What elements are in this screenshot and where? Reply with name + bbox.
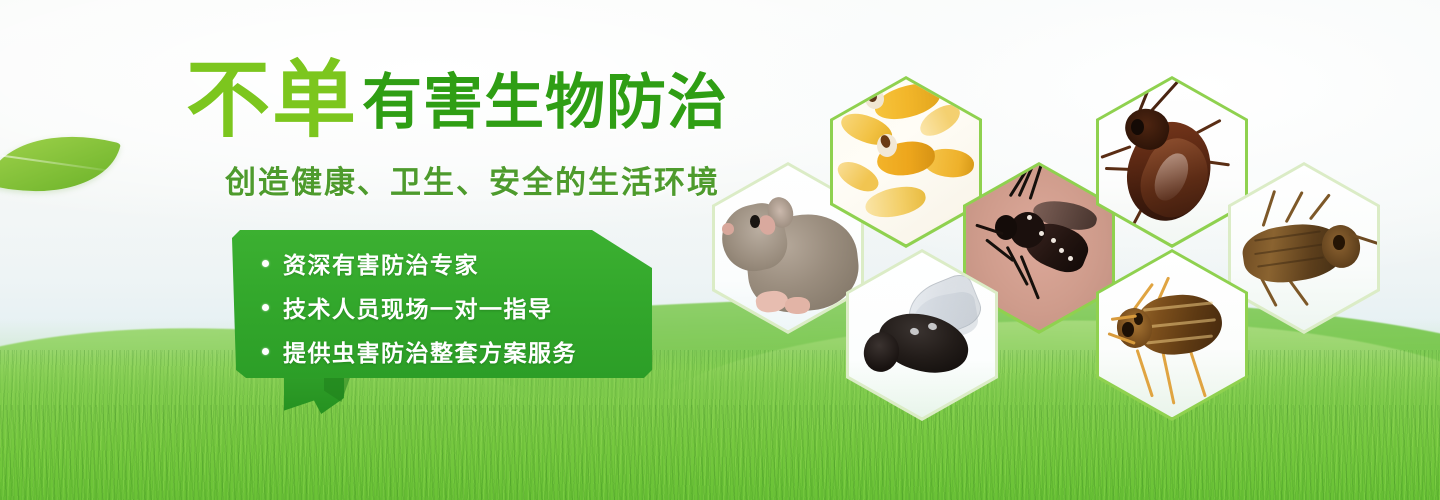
list-item: 提供虫害防治整套方案服务 bbox=[262, 332, 577, 370]
headline-main: 有害生物防治 bbox=[362, 68, 728, 139]
hex-cell-bed-bug bbox=[1096, 249, 1248, 421]
bullet-dot-icon bbox=[262, 260, 269, 267]
feature-label: 资深有害防治专家 bbox=[283, 246, 479, 280]
cockroach-side-photo bbox=[1231, 165, 1377, 330]
bed-bug-photo bbox=[1099, 252, 1245, 417]
feature-label: 提供虫害防治整套方案服务 bbox=[283, 334, 577, 368]
leaf-icon bbox=[0, 115, 121, 214]
leaf-vein bbox=[2, 155, 107, 172]
hex-cell-cockroach bbox=[1096, 76, 1248, 248]
features-ribbon: 资深有害防治专家 技术人员现场一对一指导 提供虫害防治整套方案服务 bbox=[232, 230, 652, 390]
bullet-dot-icon bbox=[262, 348, 269, 355]
list-item: 资深有害防治专家 bbox=[262, 244, 577, 282]
pest-control-hero-banner: 不单 有害生物防治 创造健康、卫生、安全的生活环境 资深有害防治专家 技术人员现… bbox=[0, 0, 1440, 500]
page-subtitle: 创造健康、卫生、安全的生活环境 bbox=[225, 157, 720, 202]
list-item: 技术人员现场一对一指导 bbox=[262, 288, 577, 326]
feature-list: 资深有害防治专家 技术人员现场一对一指导 提供虫害防治整套方案服务 bbox=[262, 244, 577, 370]
page-title: 不单 有害生物防治 bbox=[186, 62, 728, 139]
feature-label: 技术人员现场一对一指导 bbox=[283, 290, 553, 324]
grass-blades bbox=[0, 405, 1440, 500]
bullet-dot-icon bbox=[262, 304, 269, 311]
pest-hexagon-cluster bbox=[700, 74, 1400, 404]
hex-cell-cockroach-2 bbox=[1228, 162, 1380, 334]
cockroach-photo bbox=[1099, 79, 1245, 244]
headline-highlight: 不单 bbox=[186, 62, 358, 139]
